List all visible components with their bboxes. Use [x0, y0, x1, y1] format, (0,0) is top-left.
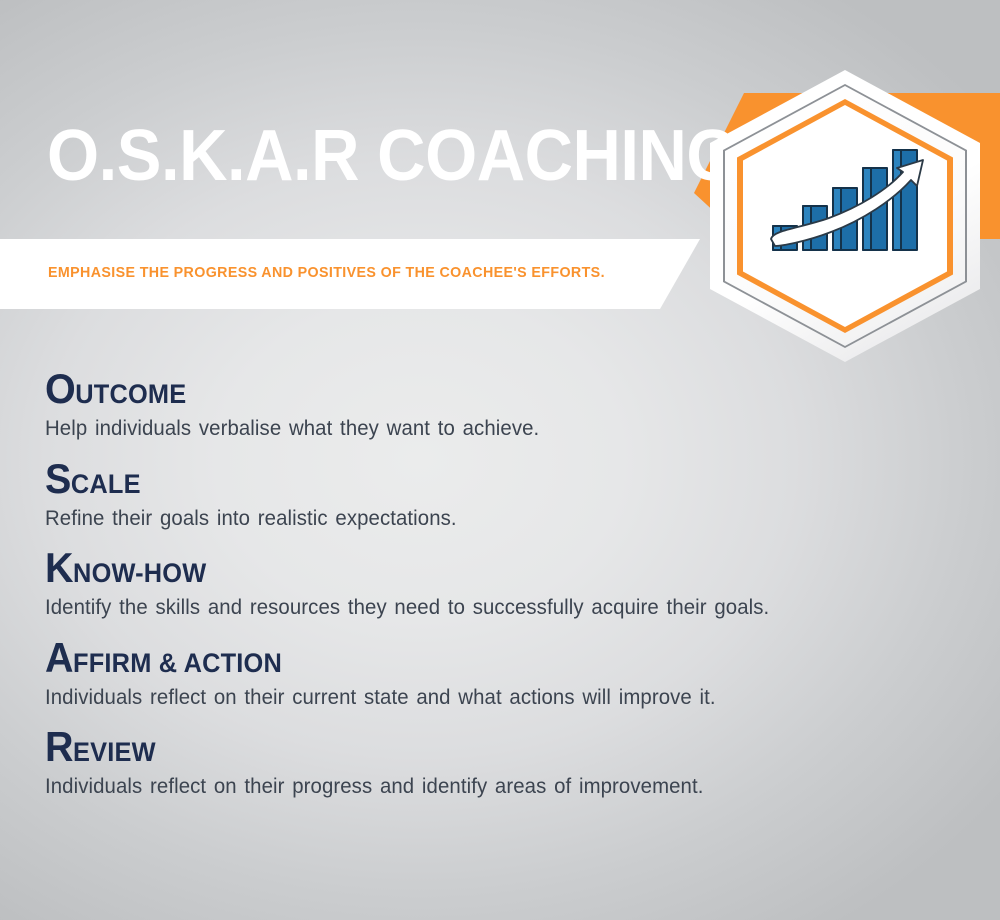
- page-title: O.S.K.A.R COACHING: [47, 120, 738, 192]
- item-heading: SCALE: [45, 458, 891, 500]
- item-initial: A: [45, 634, 73, 681]
- item-heading: REVIEW: [45, 726, 891, 768]
- item-initial: O: [45, 365, 75, 412]
- list-item: AFFIRM & ACTION Individuals reflect on t…: [45, 637, 945, 711]
- item-heading: AFFIRM & ACTION: [45, 637, 891, 679]
- item-heading-rest: CALE: [71, 469, 141, 499]
- item-heading-rest: NOW-HOW: [73, 558, 206, 588]
- item-heading-rest: EVIEW: [73, 737, 156, 767]
- item-description: Help individuals verbalise what they wan…: [45, 416, 918, 442]
- item-initial: R: [45, 723, 73, 770]
- item-heading: OUTCOME: [45, 368, 891, 410]
- item-description: Refine their goals into realistic expect…: [45, 506, 918, 532]
- page-subtitle: EMPHASISE THE PROGRESS AND POSITIVES OF …: [48, 264, 605, 281]
- list-item: REVIEW Individuals reflect on their prog…: [45, 726, 945, 800]
- item-heading-rest: FFIRM & ACTION: [73, 648, 282, 678]
- growth-bar-chart-arrow-icon: [767, 142, 927, 262]
- item-initial: K: [45, 544, 73, 591]
- item-heading: KNOW-HOW: [45, 547, 891, 589]
- oskar-list: OUTCOME Help individuals verbalise what …: [45, 368, 945, 816]
- item-description: Individuals reflect on their progress an…: [45, 774, 918, 800]
- hexagon-badge: [710, 70, 980, 362]
- infographic-poster: O.S.K.A.R COACHING EMPHASISE THE PROGRES…: [0, 0, 1000, 920]
- list-item: SCALE Refine their goals into realistic …: [45, 458, 945, 532]
- item-description: Identify the skills and resources they n…: [45, 595, 918, 621]
- item-initial: S: [45, 455, 71, 502]
- list-item: OUTCOME Help individuals verbalise what …: [45, 368, 945, 442]
- list-item: KNOW-HOW Identify the skills and resourc…: [45, 547, 945, 621]
- item-description: Individuals reflect on their current sta…: [45, 685, 918, 711]
- item-heading-rest: UTCOME: [75, 379, 186, 409]
